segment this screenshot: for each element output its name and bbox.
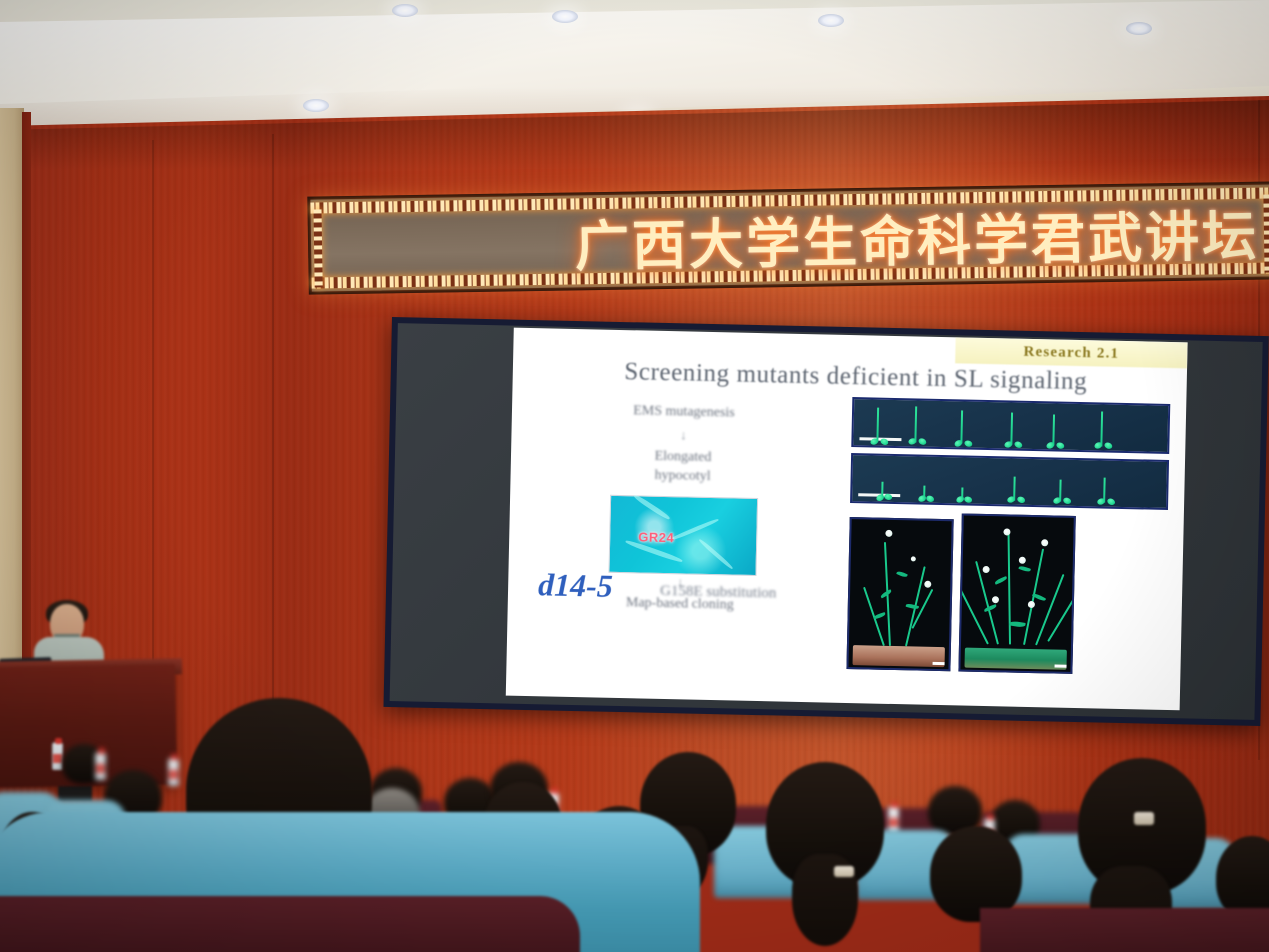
slide-research-badge: Research 2.1	[955, 337, 1188, 368]
scale-bar	[1055, 665, 1067, 668]
gr24-label: GR24	[638, 529, 674, 545]
downlight-icon	[818, 14, 844, 27]
led-banner: 广西大学生命科学君武讲坛	[307, 181, 1269, 294]
seedling-panel-top	[851, 397, 1170, 454]
scale-bar	[933, 662, 945, 665]
downlight-icon	[1126, 22, 1152, 35]
plant-photo-right	[958, 513, 1075, 673]
side-column-edge	[22, 112, 31, 668]
presentation-slide: Research 2.1 Screening mutants deficient…	[506, 328, 1188, 711]
hair-clip	[1134, 812, 1154, 825]
side-column	[0, 108, 24, 668]
seedling-panel-bottom	[850, 453, 1169, 510]
downlight-icon	[392, 4, 418, 17]
water-bottle	[168, 758, 179, 786]
wall-panel-seam	[152, 140, 154, 720]
lecture-hall-photo: 广西大学生命科学君武讲坛 Research 2.1 Screening muta…	[0, 0, 1269, 952]
mutant-detail-label: G158E substitution	[660, 583, 777, 603]
front-seat-row[interactable]	[330, 836, 1090, 952]
wall-panel-seam	[272, 134, 274, 734]
flow-arrow-icon: ↓	[533, 424, 833, 447]
plant-pot	[853, 645, 945, 667]
front-seat-rail	[980, 908, 1269, 952]
plant-pot	[964, 648, 1066, 670]
plant-photo-left	[846, 517, 953, 671]
gr24-plate-image: GR24	[608, 495, 758, 576]
downlight-icon	[552, 10, 578, 23]
mutant-name-label: d14-5	[538, 566, 613, 605]
water-bottle	[95, 752, 106, 780]
projection-screen: Research 2.1 Screening mutants deficient…	[383, 317, 1268, 726]
banner-title-text: 广西大学生命科学君武讲坛	[310, 193, 1269, 284]
downlight-icon	[303, 99, 329, 112]
flow-step-label: EMS mutagenesis	[534, 400, 834, 425]
